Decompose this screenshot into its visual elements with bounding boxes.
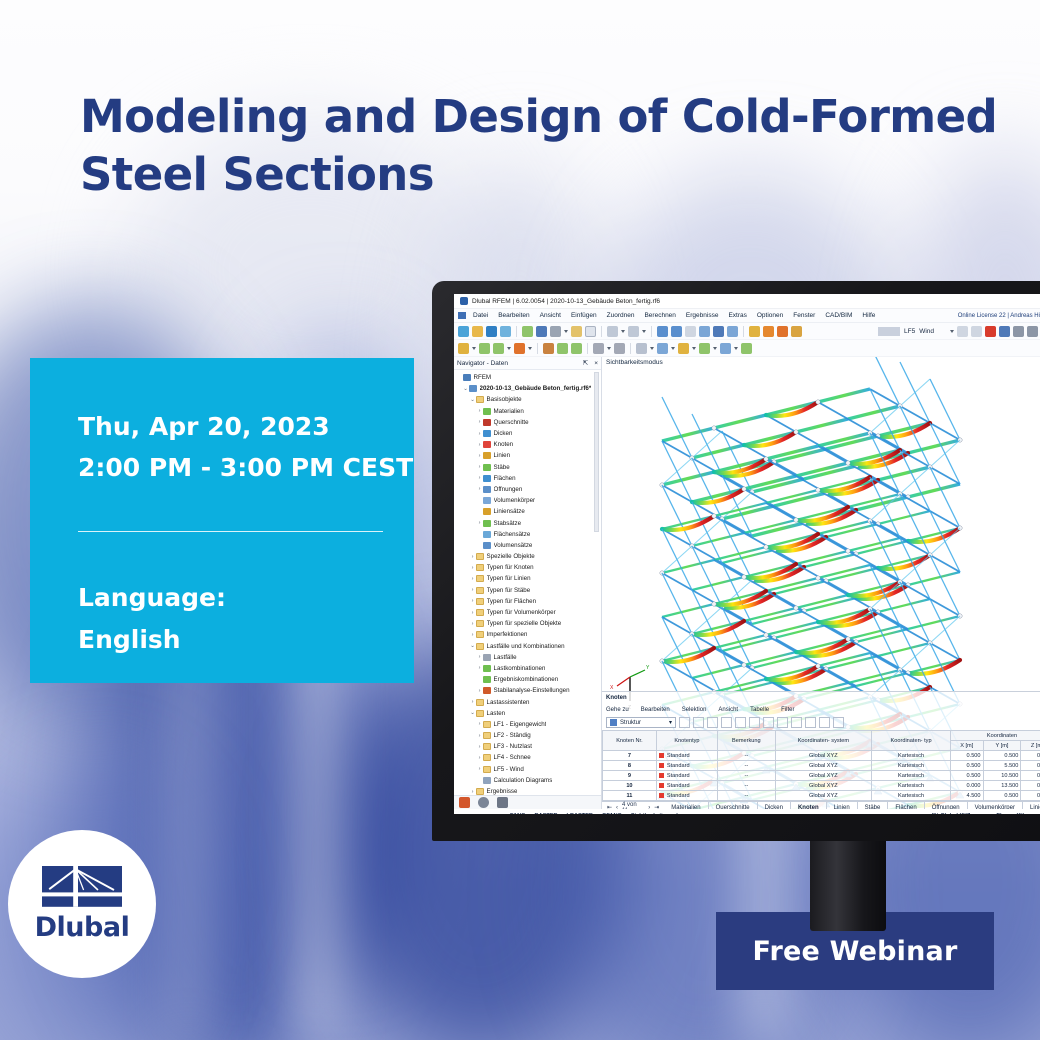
tree-item-label: LF1 - Eigengewicht: [494, 721, 547, 728]
chevron-right-icon[interactable]: ›: [476, 744, 483, 750]
tree-item-label: Lastfälle: [494, 654, 517, 661]
cell-koordinatentyp[interactable]: Kartesisch: [872, 751, 951, 761]
chevron-right-icon[interactable]: ›: [476, 419, 483, 425]
tree-item-liniens-tze[interactable]: Liniensätze: [456, 506, 601, 517]
table-menu-bearbeiten[interactable]: Bearbeiten: [641, 707, 670, 713]
table-tab-volumenk-rper[interactable]: Volumenkörper: [968, 802, 1023, 810]
menu-item-ergebnisse[interactable]: Ergebnisse: [681, 312, 724, 319]
folder-icon: [476, 609, 484, 616]
tree-item-lf1-eigengewicht[interactable]: ›LF1 - Eigengewicht: [456, 719, 601, 730]
tree-model-file[interactable]: ⌄ 2020-10-13_Gebäude Beton_fertig.rf6*: [456, 383, 601, 394]
cell-koordinatentyp[interactable]: Kartesisch: [872, 761, 951, 771]
redo-chevron-down-icon[interactable]: [642, 330, 646, 333]
col-koordinatentyp: Koordinaten- typ: [872, 731, 951, 751]
navigator-float-icon[interactable]: ⇱: [583, 359, 588, 367]
tree-item-label: Flächen: [494, 475, 516, 482]
sds-icon: [483, 542, 491, 549]
chevron-right-icon[interactable]: ›: [476, 755, 483, 761]
cell-y[interactable]: 5.500: [983, 761, 1021, 771]
window-menu-icon[interactable]: [458, 312, 466, 319]
chevron-right-icon[interactable]: ›: [469, 565, 476, 571]
srs-icon: [483, 531, 491, 538]
cell-x[interactable]: 0.000: [950, 781, 983, 791]
table-grid-icon[interactable]: [749, 717, 760, 728]
section-icon[interactable]: [678, 343, 689, 354]
webinar-time: 2:00 PM - 3:00 PM CEST: [78, 447, 414, 488]
report-icon[interactable]: [713, 326, 724, 337]
tree-item-lastf-lle-und-kombinationen[interactable]: ⌄Lastfälle und Kombinationen: [456, 641, 601, 652]
list-icon[interactable]: [727, 326, 738, 337]
chevron-right-icon[interactable]: ›: [476, 733, 483, 739]
tree-item-label: Typen für Stäbe: [487, 587, 531, 594]
tree-item-querschnitte[interactable]: ›Querschnitte: [456, 417, 601, 428]
calc-icon[interactable]: [763, 326, 774, 337]
menu-item-berechnen[interactable]: Berechnen: [639, 312, 680, 319]
tree-item-lf5-wind[interactable]: ›LF5 - Wind: [456, 764, 601, 775]
col-knotentyp: Knotentyp: [656, 731, 717, 751]
table-header-row: Knoten Nr. Knotentyp Bemerkung Koordinat…: [603, 731, 1040, 741]
knoten-table[interactable]: Knoten Nr. Knotentyp Bemerkung Koordinat…: [602, 730, 1040, 801]
navigator-data-icon[interactable]: [459, 797, 470, 808]
tree-item-ffnungen[interactable]: ›Öffnungen: [456, 484, 601, 495]
imperfection-icon[interactable]: [636, 343, 647, 354]
chevron-right-icon[interactable]: ›: [476, 442, 483, 448]
tree-item-typen-f-r-linien[interactable]: ›Typen für Linien: [456, 573, 601, 584]
import-icon[interactable]: [500, 326, 511, 337]
menu-item-cad-bim[interactable]: CAD/BIM: [820, 312, 857, 319]
tree-item-st-be[interactable]: ›Stäbe: [456, 462, 601, 473]
model-viewport[interactable]: Sichtbarkeitsmodus: [602, 357, 1040, 809]
chevron-right-icon[interactable]: ›: [469, 598, 476, 604]
navigator-tree[interactable]: RFEM ⌄ 2020-10-13_Gebäude Beton_fertig.r…: [454, 370, 601, 795]
table-panel-toolbar: Struktur ▾: [602, 715, 1040, 730]
folder-icon: [476, 564, 484, 571]
tree-item-label: Typen für Flächen: [487, 598, 537, 605]
chevron-right-icon[interactable]: ›: [476, 654, 483, 660]
hinge-tool-icon[interactable]: [557, 343, 568, 354]
cell-x[interactable]: 4.500: [950, 791, 983, 801]
cell-knotentyp[interactable]: Standard: [656, 771, 717, 781]
table-tab-materialien[interactable]: Materialien: [664, 802, 708, 810]
tree-item-label: Volumensätze: [494, 542, 533, 549]
copy-icon[interactable]: [571, 326, 582, 337]
mesh-tool-icon[interactable]: [571, 343, 582, 354]
cell-knotentyp[interactable]: Standard: [656, 791, 717, 801]
cell-koordinatensystem[interactable]: Global XYZ: [775, 791, 871, 801]
table-tab-bar: ⇤ ‹ 4 von 11 › ⇥ MaterialienQuerschnitte…: [602, 801, 1040, 809]
tree-item-stabs-tze[interactable]: ›Stabsätze: [456, 517, 601, 528]
combo-chevron-down-icon[interactable]: [950, 330, 954, 333]
render-icon[interactable]: [791, 326, 802, 337]
svg-text:Y: Y: [646, 665, 650, 671]
tree-item-typen-f-r-fl-chen[interactable]: ›Typen für Flächen: [456, 596, 601, 607]
line-load-icon[interactable]: [614, 343, 625, 354]
pager-last-icon[interactable]: ⇥: [654, 804, 659, 809]
cell-knotentyp[interactable]: Standard: [656, 761, 717, 771]
tree-item-typen-f-r-spezielle-objekte[interactable]: ›Typen für spezielle Objekte: [456, 618, 601, 629]
export-icon[interactable]: [522, 326, 533, 337]
sec-icon: [483, 419, 491, 426]
table-row[interactable]: 7Standard--Global XYZKartesisch0.5000.50…: [603, 751, 1040, 761]
support-tool-icon[interactable]: [543, 343, 554, 354]
menu-item-optionen[interactable]: Optionen: [752, 312, 788, 319]
cell-y[interactable]: 10.500: [983, 771, 1021, 781]
table-scope-value: Struktur: [620, 720, 641, 726]
tree-item-volumenk-rper[interactable]: Volumenkörper: [456, 495, 601, 506]
tree-item-imperfektionen[interactable]: ›Imperfektionen: [456, 629, 601, 640]
language-label: Language:: [78, 577, 414, 619]
cell-z[interactable]: 0.000: [1021, 761, 1040, 771]
cell-z[interactable]: 0.000: [1021, 771, 1040, 781]
menu-item-ansicht[interactable]: Ansicht: [535, 312, 566, 319]
table-find-icon[interactable]: [707, 717, 718, 728]
cell-koordinatentyp[interactable]: Kartesisch: [872, 791, 951, 801]
cell-bemerkung[interactable]: --: [718, 791, 776, 801]
section-chevron-down-icon[interactable]: [692, 347, 696, 350]
tree-root-rfem[interactable]: RFEM: [456, 372, 601, 383]
navigator-views-icon[interactable]: [497, 797, 508, 808]
cell-x[interactable]: 0.500: [950, 751, 983, 761]
next-icon[interactable]: [971, 326, 982, 337]
table-sort-icon[interactable]: [777, 717, 788, 728]
menu-item-fenster[interactable]: Fenster: [788, 312, 820, 319]
table-tab-knoten[interactable]: Knoten: [791, 802, 827, 810]
table-tab-querschnitte[interactable]: Querschnitte: [709, 802, 758, 810]
table-row[interactable]: 8Standard--Global XYZKartesisch0.5005.50…: [603, 761, 1040, 771]
results-icon[interactable]: [777, 326, 788, 337]
combination-icon[interactable]: [657, 343, 668, 354]
print-icon[interactable]: [550, 326, 561, 337]
paste-icon[interactable]: [585, 326, 596, 337]
tree-item-ergebniskombinationen[interactable]: Ergebniskombinationen: [456, 674, 601, 685]
chevron-right-icon[interactable]: ›: [476, 475, 483, 481]
tree-item-calculation-diagrams[interactable]: Calculation Diagrams: [456, 775, 601, 786]
chevron-right-icon[interactable]: ›: [476, 453, 483, 459]
divider: [78, 531, 383, 532]
page-title: Modeling and Design of Cold-Formed Steel…: [80, 88, 980, 204]
tree-item-lf3-nutzlast[interactable]: ›LF3 - Nutzlast: [456, 741, 601, 752]
table-scope-select[interactable]: Struktur ▾: [606, 717, 676, 728]
load-icon[interactable]: [749, 326, 760, 337]
member-tool-icon[interactable]: [493, 343, 504, 354]
toolbar-separator-2: [601, 326, 602, 337]
chevron-right-icon[interactable]: ›: [476, 464, 483, 470]
material-chevron-down-icon[interactable]: [713, 347, 717, 350]
cell-bemerkung[interactable]: --: [718, 751, 776, 761]
chevron-right-icon[interactable]: ›: [469, 789, 476, 795]
print-chevron-down-icon[interactable]: [564, 330, 568, 333]
panel-right-icon[interactable]: [671, 326, 682, 337]
license-info: Online License 22 | Andreas Hörold: [958, 313, 1040, 319]
imperfection-chevron-down-icon[interactable]: [650, 347, 654, 350]
table-menu-gehe-zu[interactable]: Gehe zu: [606, 707, 629, 713]
logo-wordmark: Dlubal: [35, 914, 130, 942]
settings-icon[interactable]: [999, 326, 1010, 337]
stability-icon[interactable]: [741, 343, 752, 354]
tree-item-label: Stabsätze: [494, 520, 522, 527]
tree-item-linien[interactable]: ›Linien: [456, 450, 601, 461]
combination-chevron-down-icon[interactable]: [671, 347, 675, 350]
chevron-right-icon[interactable]: ›: [476, 766, 483, 772]
table-menu-filter[interactable]: Filter: [781, 707, 794, 713]
table-tab-linien[interactable]: Linien: [1023, 802, 1040, 810]
save-icon[interactable]: [536, 326, 547, 337]
folder-icon: [476, 710, 484, 717]
menu-item-datei[interactable]: Datei: [468, 312, 493, 319]
tree-item-label: Lastfälle und Kombinationen: [487, 643, 565, 650]
tree-item-label: Lasten: [487, 710, 506, 717]
pager-first-icon[interactable]: ⇤: [607, 804, 612, 809]
cell-y[interactable]: 0.500: [983, 751, 1021, 761]
toolbar2-separator-2: [587, 343, 588, 354]
tree-item-materialien[interactable]: ›Materialien: [456, 406, 601, 417]
type-color-swatch: [659, 763, 664, 768]
tree-item-spezielle-objekte[interactable]: ›Spezielle Objekte: [456, 551, 601, 562]
table-next-icon[interactable]: [693, 717, 704, 728]
folder-icon: [483, 743, 491, 750]
tree-item-dicken[interactable]: ›Dicken: [456, 428, 601, 439]
load-case-selector[interactable]: LF5 Wind: [878, 327, 934, 336]
table-export-icon[interactable]: [819, 717, 830, 728]
status-zoom: 4% Global XYZ: [931, 813, 970, 815]
tree-item-volumens-tze[interactable]: Volumensätze: [456, 540, 601, 551]
menu-item-einfuegen[interactable]: Einfügen: [566, 312, 602, 319]
cell-z[interactable]: 0.000: [1021, 781, 1040, 791]
cell-knoten-nr[interactable]: 10: [603, 781, 657, 791]
folder-icon: [483, 766, 491, 773]
cell-knotentyp[interactable]: Standard: [656, 751, 717, 761]
navigator-display-icon[interactable]: [478, 797, 489, 808]
cell-z[interactable]: 0.000: [1021, 791, 1040, 801]
zoom-icon[interactable]: [1027, 326, 1038, 337]
folder-icon: [476, 620, 484, 627]
status-sichtbarkeitsmodus[interactable]: Sichtbarkeitsmodus: [631, 813, 684, 815]
panel-left-icon[interactable]: [657, 326, 668, 337]
tree-item-label: Lastassistenten: [487, 699, 530, 706]
menu-item-hilfe[interactable]: Hilfe: [857, 312, 880, 319]
mbs-icon: [483, 520, 491, 527]
table-settings-icon[interactable]: [833, 717, 844, 728]
folder-icon: [476, 643, 484, 650]
cell-x[interactable]: 0.500: [950, 771, 983, 781]
chevron-right-icon[interactable]: ›: [469, 587, 476, 593]
table-tab--ffnungen[interactable]: Öffnungen: [925, 802, 968, 810]
table-tab-linien[interactable]: Linien: [827, 802, 858, 810]
menu-item-zuordnen[interactable]: Zuordnen: [602, 312, 640, 319]
cell-knoten-nr[interactable]: 9: [603, 771, 657, 781]
chevron-right-icon[interactable]: ›: [476, 721, 483, 727]
tree-item-label: Linien: [494, 452, 511, 459]
cell-bemerkung[interactable]: --: [718, 761, 776, 771]
cell-koordinatentyp[interactable]: Kartesisch: [872, 771, 951, 781]
tree-item-label: Öffnungen: [494, 486, 523, 493]
folder-icon: [476, 788, 484, 795]
scope-chevron-down-icon: ▾: [669, 719, 672, 726]
tree-item-knoten[interactable]: ›Knoten: [456, 439, 601, 450]
tree-item-lastassistenten[interactable]: ›Lastassistenten: [456, 696, 601, 707]
cell-x[interactable]: 0.500: [950, 761, 983, 771]
tree-item-label: Ergebnisse: [487, 788, 518, 795]
rfem-title-bar: Dlubal RFEM | 6.02.0054 | 2020-10-13_Geb…: [454, 294, 1040, 309]
cell-knoten-nr[interactable]: 8: [603, 761, 657, 771]
chevron-right-icon[interactable]: ›: [469, 699, 476, 705]
type-color-swatch: [659, 783, 664, 788]
node-chevron-down-icon[interactable]: [472, 347, 476, 350]
status-lraster[interactable]: LRASTER: [567, 813, 593, 815]
chevron-down-icon[interactable]: ⌄: [469, 710, 476, 716]
cell-koordinatensystem[interactable]: Global XYZ: [775, 761, 871, 771]
table-pager[interactable]: ⇤ ‹ 4 von 11 › ⇥: [602, 802, 664, 810]
dlubal-logo: Dlubal: [8, 830, 156, 978]
tree-item-typen-f-r-st-be[interactable]: ›Typen für Stäbe: [456, 585, 601, 596]
tree-item-label: Typen für Volumenkörper: [487, 609, 556, 616]
chevron-right-icon[interactable]: ›: [476, 431, 483, 437]
table-filter-icon[interactable]: [763, 717, 774, 728]
chevron-right-icon[interactable]: ›: [476, 688, 483, 694]
chevron-right-icon[interactable]: ›: [469, 610, 476, 616]
surface-chevron-down-icon[interactable]: [528, 347, 532, 350]
chevron-down-icon[interactable]: ⌄: [469, 643, 476, 649]
toolbar2-separator-3: [630, 343, 631, 354]
tree-item-typen-f-r-knoten[interactable]: ›Typen für Knoten: [456, 562, 601, 573]
tree-item-typen-f-r-volumenk-rper[interactable]: ›Typen für Volumenkörper: [456, 607, 601, 618]
table-menu-selektion[interactable]: Selektion: [682, 707, 707, 713]
delete-icon[interactable]: [985, 326, 996, 337]
nod-icon: [483, 441, 491, 448]
undo-icon[interactable]: [607, 326, 618, 337]
thickness-icon[interactable]: [720, 343, 731, 354]
cell-koordinatensystem[interactable]: Global XYZ: [775, 781, 871, 791]
nodal-load-chevron-down-icon[interactable]: [607, 347, 611, 350]
chevron-right-icon[interactable]: ›: [469, 632, 476, 638]
model-icon: [469, 385, 477, 392]
cell-bemerkung[interactable]: --: [718, 781, 776, 791]
cell-bemerkung[interactable]: --: [718, 771, 776, 781]
cell-y[interactable]: 13.500: [983, 781, 1021, 791]
redo-icon[interactable]: [628, 326, 639, 337]
cell-koordinatensystem[interactable]: Global XYZ: [775, 771, 871, 781]
undo-chevron-down-icon[interactable]: [621, 330, 625, 333]
table-menu-ansicht[interactable]: Ansicht: [718, 707, 738, 713]
chevron-right-icon[interactable]: ›: [476, 520, 483, 526]
tree-item-label: Basisobjekte: [487, 396, 522, 403]
line-tool-icon[interactable]: [479, 343, 490, 354]
chevron-right-icon[interactable]: ›: [476, 408, 483, 414]
filter-icon[interactable]: [1013, 326, 1024, 337]
chevron-right-icon[interactable]: ›: [476, 486, 483, 492]
table-insert-row-icon[interactable]: [805, 717, 816, 728]
tree-item-lastkombinationen[interactable]: ›Lastkombinationen: [456, 663, 601, 674]
tree-item-fl-chen[interactable]: ›Flächen: [456, 473, 601, 484]
title-line-2: Steel Sections: [80, 146, 980, 204]
navigator-close-icon[interactable]: ×: [594, 360, 598, 367]
new-icon[interactable]: [458, 326, 469, 337]
tree-item-basisobjekte[interactable]: ⌄Basisobjekte: [456, 394, 601, 405]
table-row[interactable]: 10Standard--Global XYZKartesisch0.00013.…: [603, 781, 1040, 791]
member-chevron-down-icon[interactable]: [507, 347, 511, 350]
tree-item-lf4-schnee[interactable]: ›LF4 - Schnee: [456, 752, 601, 763]
tree-item-fl-chens-tze[interactable]: Flächensätze: [456, 529, 601, 540]
prev-icon[interactable]: [957, 326, 968, 337]
cell-knoten-nr[interactable]: 7: [603, 751, 657, 761]
tree-item-lastf-lle[interactable]: ›Lastfälle: [456, 652, 601, 663]
chevron-right-icon[interactable]: ›: [476, 665, 483, 671]
status-raster[interactable]: RASTER: [535, 813, 558, 815]
toolbar-right-group: [950, 326, 1040, 337]
tree-item-stabilanalyse-einstellungen[interactable]: ›Stabilanalyse-Einstellungen: [456, 685, 601, 696]
sld-icon: [483, 497, 491, 504]
tree-item-ergebnisse[interactable]: ›Ergebnisse: [456, 786, 601, 795]
tree-item-label: Knoten: [494, 441, 514, 448]
chevron-right-icon[interactable]: ›: [469, 621, 476, 627]
col-z: Z [m]: [1021, 741, 1040, 751]
webinar-date: Thu, Apr 20, 2023: [78, 406, 414, 447]
chevron-right-icon[interactable]: ›: [469, 554, 476, 560]
tree-item-label: Ergebniskombinationen: [494, 676, 559, 683]
tree-item-lf2-st-ndig[interactable]: ›LF2 - Ständig: [456, 730, 601, 741]
table-tab-st-be[interactable]: Stäbe: [858, 802, 889, 810]
cell-koordinatentyp[interactable]: Kartesisch: [872, 781, 951, 791]
cell-z[interactable]: 0.000: [1021, 751, 1040, 761]
nodal-load-icon[interactable]: [593, 343, 604, 354]
material-icon[interactable]: [699, 343, 710, 354]
table-columns-icon[interactable]: [735, 717, 746, 728]
col-bemerkung: Bemerkung: [718, 731, 776, 751]
sta-icon: [483, 687, 491, 694]
status-ofang[interactable]: OFANG: [602, 813, 622, 815]
rfem-icon: [463, 374, 471, 381]
title-line-1: Modeling and Design of Cold-Formed: [80, 88, 980, 146]
chevron-right-icon[interactable]: ›: [469, 576, 476, 582]
chevron-down-icon[interactable]: ⌄: [469, 397, 476, 403]
cell-koordinatensystem[interactable]: Global XYZ: [775, 751, 871, 761]
menu-item-bearbeiten[interactable]: Bearbeiten: [493, 312, 534, 319]
open-icon[interactable]: [472, 326, 483, 337]
table-row[interactable]: 11Standard--Global XYZKartesisch4.5000.5…: [603, 791, 1040, 801]
table-zoom-icon[interactable]: [721, 717, 732, 728]
table-delete-row-icon[interactable]: [791, 717, 802, 728]
blocks-icon[interactable]: [486, 326, 497, 337]
pager-prev-icon[interactable]: ‹: [616, 805, 618, 810]
node-tool-icon[interactable]: [458, 343, 469, 354]
cell-knotentyp[interactable]: Standard: [656, 781, 717, 791]
folder-icon: [483, 732, 491, 739]
table-tab-fl-chen[interactable]: Flächen: [888, 802, 924, 810]
table-row[interactable]: 9Standard--Global XYZKartesisch0.50010.5…: [603, 771, 1040, 781]
status-fang[interactable]: FANG: [510, 813, 526, 815]
navigator-scrollbar[interactable]: [594, 372, 599, 532]
cell-y[interactable]: 0.500: [983, 791, 1021, 801]
rfem-status-bar: FANG RASTER LRASTER OFANG Sichtbarkeitsm…: [454, 809, 1040, 814]
surface-tool-icon[interactable]: [514, 343, 525, 354]
col-y: Y [m]: [983, 741, 1021, 751]
folder-icon: [476, 396, 484, 403]
cell-knoten-nr[interactable]: 11: [603, 791, 657, 801]
navigator-tab-daten[interactable]: Navigator - Daten: [457, 360, 508, 367]
grid-icon[interactable]: [685, 326, 696, 337]
table-prev-icon[interactable]: [679, 717, 690, 728]
table-tab-dicken[interactable]: Dicken: [758, 802, 791, 810]
table-menu-tabelle[interactable]: Tabelle: [750, 707, 769, 713]
tree-item-lasten[interactable]: ⌄Lasten: [456, 708, 601, 719]
tree-item-label: LF2 - Ständig: [494, 732, 531, 739]
pager-next-icon[interactable]: ›: [648, 805, 650, 810]
webinar-info-panel: Thu, Apr 20, 2023 2:00 PM - 3:00 PM CEST…: [30, 358, 414, 683]
toolbar2-separator: [537, 343, 538, 354]
menu-item-extras[interactable]: Extras: [723, 312, 751, 319]
thickness-chevron-down-icon[interactable]: [734, 347, 738, 350]
table-icon[interactable]: [699, 326, 710, 337]
